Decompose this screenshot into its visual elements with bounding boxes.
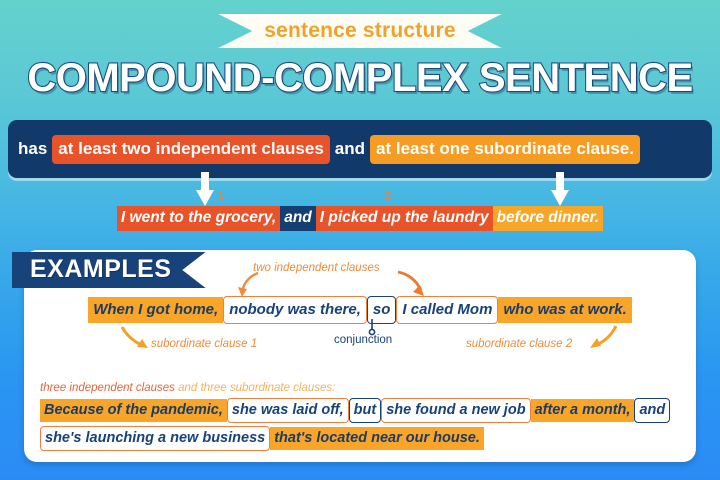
annotation-conjunction: conjunction	[334, 334, 392, 346]
sentence-run: I went to the grocery,	[117, 206, 280, 231]
definition-conjunction: and	[335, 139, 365, 159]
sentence-run: I picked up the laundry	[316, 206, 493, 231]
clause-chunk-independent-1: she was laid off,	[227, 398, 349, 423]
independent-rest-part: independent clauses	[156, 139, 324, 158]
clause-chunk-independent-2: she found a new job	[381, 398, 530, 423]
sentence-run-conjunction: and	[280, 206, 316, 231]
arrow-head	[551, 190, 569, 206]
example-2-label: three independent clauses and three subo…	[40, 382, 335, 394]
clause-chunk-subordinate-2: after a month,	[531, 399, 635, 422]
clause-chunk-independent-2: I called Mom	[396, 296, 498, 324]
example-2-label-light: and three subordinate clauses:	[175, 382, 335, 394]
clause-marker-2: 2	[385, 190, 391, 202]
annotation-two-independent-clauses: two independent clauses	[253, 262, 380, 274]
arrow-head	[196, 190, 214, 206]
annotation-arrow-subordinate-2-icon	[586, 322, 620, 354]
examples-banner-label: EXAMPLES	[30, 255, 172, 283]
page-title: COMPOUND-COMPLEX SENTENCE	[0, 56, 720, 101]
clause-chunk-independent-1: nobody was there,	[223, 296, 367, 324]
ribbon-body: sentence structure	[218, 14, 502, 48]
example-2-line-1: Because of the pandemic, she was laid of…	[40, 398, 686, 423]
clause-chunk-subordinate-2: who was at work.	[498, 297, 631, 323]
clause-marker-1: 1	[218, 190, 224, 202]
example-2-line-2: she's launching a new business that's lo…	[40, 426, 686, 451]
annotation-arrow-subordinate-1-icon	[118, 324, 152, 354]
clause-chunk-subordinate-1: When I got home,	[88, 297, 223, 323]
definition-line: has at least two independent clauses and…	[18, 135, 640, 164]
example-1-sentence: When I got home, nobody was there, so I …	[0, 296, 720, 324]
annotation-subordinate-clause-1: subordinate clause 1	[151, 338, 257, 350]
example-2-label-red: three independent clauses	[40, 382, 175, 394]
example-2-sentence: Because of the pandemic, she was laid of…	[40, 398, 686, 454]
ribbon-label: sentence structure	[264, 19, 456, 42]
clause-chunk-independent-3: she's launching a new business	[40, 426, 270, 451]
top-example-sentence: I went to the grocery, and I picked up t…	[0, 206, 720, 231]
arrow-shaft	[556, 172, 564, 192]
sentence-run-subordinate: before dinner.	[493, 206, 604, 231]
annotation-subordinate-clause-2: subordinate clause 2	[466, 338, 572, 350]
clause-chunk-conjunction-but: but	[349, 398, 382, 423]
definition-lead: has	[18, 139, 47, 159]
clause-chunk-subordinate-1: Because of the pandemic,	[40, 399, 227, 422]
sentence-structure-ribbon: sentence structure	[0, 14, 720, 48]
clause-chunk-subordinate-3: that's located near our house.	[270, 427, 484, 450]
arrow-down-icon-right	[551, 172, 569, 206]
independent-bold-part: at least two	[58, 139, 151, 158]
independent-clause-highlight: at least two independent clauses	[52, 135, 330, 164]
subordinate-bold-part: at least one	[376, 139, 470, 158]
subordinate-clause-highlight: at least one subordinate clause.	[370, 135, 640, 164]
clause-chunk-conjunction-and: and	[634, 398, 670, 423]
arrow-shaft	[201, 172, 209, 192]
definition-banner: has at least two independent clauses and…	[8, 120, 712, 178]
examples-banner: EXAMPLES	[12, 252, 206, 288]
subordinate-rest-part: subordinate clause.	[474, 139, 634, 158]
arrow-down-icon-left	[196, 172, 214, 206]
